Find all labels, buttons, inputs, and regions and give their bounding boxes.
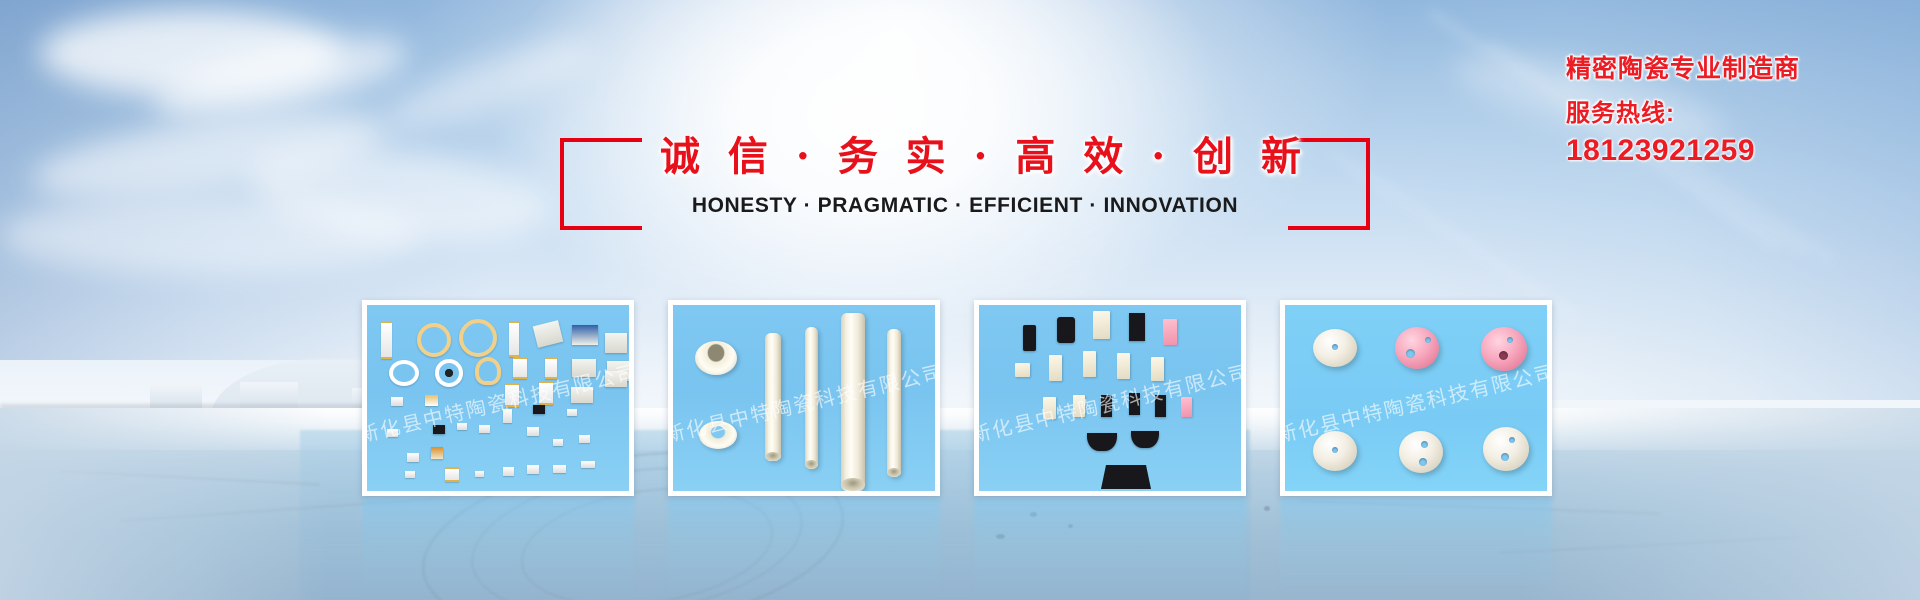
ceramic-disc xyxy=(1313,431,1357,471)
ceramic-part xyxy=(1083,351,1096,377)
bracket-left-icon xyxy=(560,138,642,230)
hotline-label: 服务热线: xyxy=(1566,98,1906,130)
component xyxy=(407,453,419,462)
manufacturer-tagline: 精密陶瓷专业制造商 xyxy=(1566,52,1906,86)
contact-block: 精密陶瓷专业制造商 服务热线: 18123921259 xyxy=(1566,52,1906,170)
component xyxy=(509,321,519,357)
component xyxy=(605,371,627,387)
component xyxy=(545,357,557,379)
component xyxy=(425,395,438,406)
component xyxy=(405,471,415,478)
component xyxy=(527,465,539,474)
ceramic-ring xyxy=(695,341,737,375)
component xyxy=(505,383,519,407)
ceramic-part xyxy=(1117,353,1130,379)
ceramic-tube xyxy=(841,313,865,491)
product-panel-discs[interactable]: 新化县中特陶瓷科技有限公司 xyxy=(1280,300,1552,496)
panel-reflection xyxy=(974,497,1246,593)
ceramic-disc xyxy=(1483,427,1529,471)
hero-banner: 诚 信 · 务 实 · 高 效 · 创 新 HONESTY · PRAGMATI… xyxy=(0,0,1920,600)
ceramic-ring xyxy=(699,421,737,449)
slogan-english: HONESTY · PRAGMATIC · EFFICIENT · INNOVA… xyxy=(660,192,1270,220)
ceramic-disc xyxy=(1313,329,1357,367)
component xyxy=(527,427,539,436)
ceramic-tube xyxy=(805,327,818,469)
component xyxy=(459,319,497,357)
product-panel-group: 新化县中特陶瓷科技有限公司 新化县中特陶瓷科技有限公司 xyxy=(362,300,1562,496)
component xyxy=(539,381,553,405)
component xyxy=(605,333,627,353)
component xyxy=(571,387,593,403)
ceramic-part xyxy=(1163,319,1177,345)
component xyxy=(417,323,451,357)
ceramic-part xyxy=(1049,355,1062,381)
component xyxy=(457,423,467,430)
ceramic-arc xyxy=(1087,433,1117,451)
ceramic-part xyxy=(1093,311,1110,339)
ceramic-tube xyxy=(765,333,781,461)
panel-reflection xyxy=(668,497,940,593)
panel-reflections xyxy=(362,497,1562,593)
component xyxy=(389,360,419,386)
ceramic-part xyxy=(1181,397,1192,417)
component xyxy=(503,467,514,476)
ceramic-part xyxy=(1155,395,1166,417)
component xyxy=(567,409,577,416)
slogan-chinese: 诚 信 · 务 实 · 高 效 · 创 新 xyxy=(660,130,1270,184)
component xyxy=(431,447,443,459)
panel-reflection xyxy=(1280,497,1552,593)
component xyxy=(479,425,490,433)
ceramic-disc xyxy=(1395,327,1439,369)
ceramic-part xyxy=(1057,317,1075,343)
component xyxy=(381,321,392,359)
cloud-icon xyxy=(0,195,420,275)
component xyxy=(475,471,484,477)
component xyxy=(572,325,598,345)
ceramic-base xyxy=(1101,465,1151,489)
component xyxy=(435,359,463,387)
ceramic-disc xyxy=(1481,327,1527,371)
ceramic-part xyxy=(1101,395,1112,417)
ceramic-part xyxy=(1023,325,1036,351)
component xyxy=(503,409,512,423)
ground-left-fade xyxy=(0,408,330,600)
component xyxy=(475,357,501,385)
component xyxy=(553,439,563,446)
component xyxy=(391,397,403,406)
ceramic-part xyxy=(1129,313,1145,341)
product-panel-tubes-rings[interactable]: 新化县中特陶瓷科技有限公司 xyxy=(668,300,940,496)
component xyxy=(553,465,566,473)
panel-reflection xyxy=(362,497,634,593)
product-panel-smd-components[interactable]: 新化县中特陶瓷科技有限公司 xyxy=(362,300,634,496)
ground-right-fade xyxy=(1520,408,1920,600)
ceramic-part xyxy=(1073,395,1085,417)
component xyxy=(387,429,398,437)
ceramic-arc xyxy=(1131,431,1159,448)
ceramic-part xyxy=(1015,363,1030,377)
component xyxy=(445,467,459,482)
slogan-block: 诚 信 · 务 实 · 高 效 · 创 新 HONESTY · PRAGMATI… xyxy=(560,130,1370,240)
component xyxy=(579,435,590,443)
ceramic-tube xyxy=(887,329,901,477)
ceramic-part xyxy=(1129,393,1140,415)
component xyxy=(533,405,545,414)
component xyxy=(513,357,527,379)
hotline-phone-number[interactable]: 18123921259 xyxy=(1566,132,1906,170)
component xyxy=(572,359,596,377)
ceramic-part xyxy=(1043,397,1056,419)
component xyxy=(581,461,595,468)
ceramic-part xyxy=(1151,357,1164,381)
component xyxy=(533,320,564,348)
product-panel-blocks-arcs[interactable]: 新化县中特陶瓷科技有限公司 xyxy=(974,300,1246,496)
ceramic-disc xyxy=(1399,431,1443,473)
component xyxy=(433,425,445,434)
